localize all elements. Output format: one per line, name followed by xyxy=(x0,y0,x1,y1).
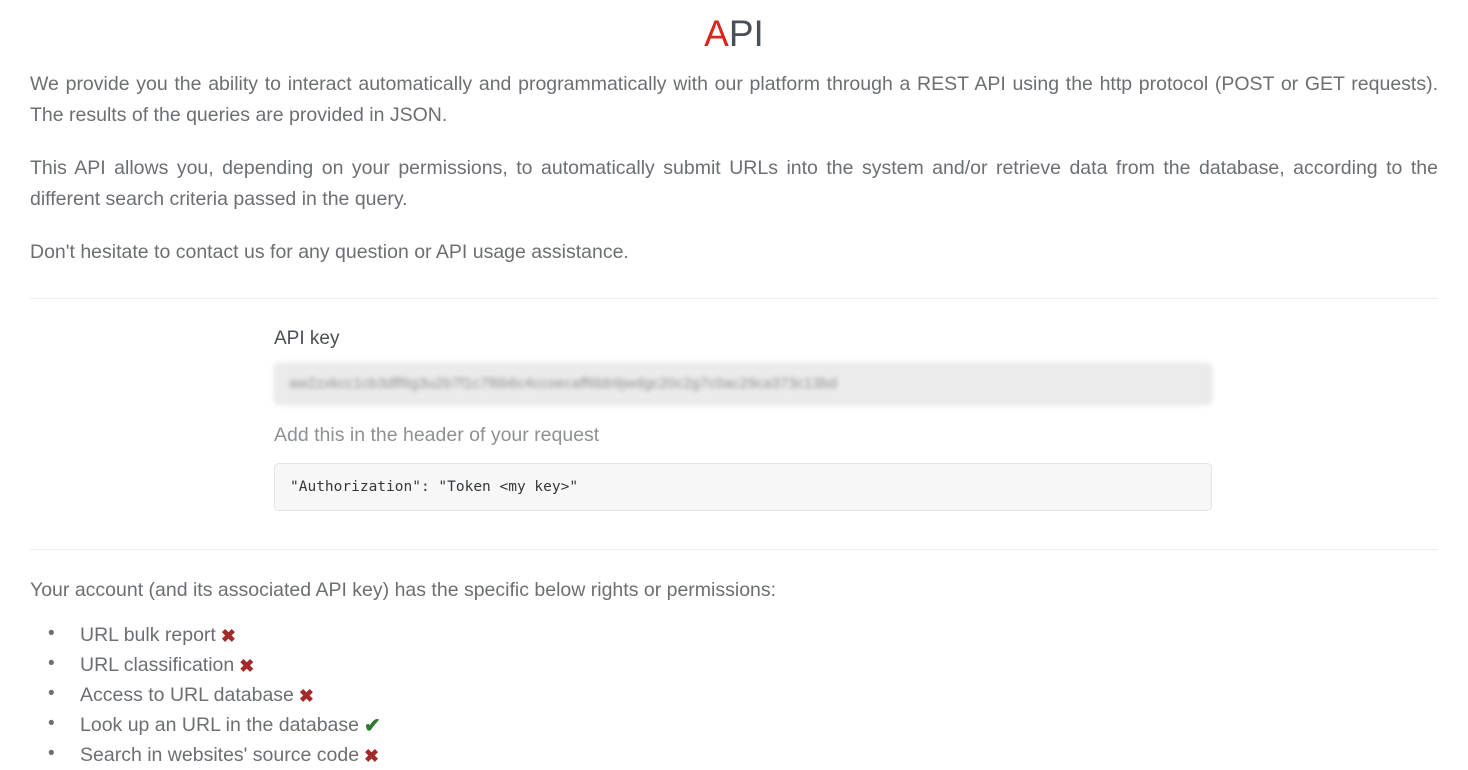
intro-paragraph-2: This API allows you, depending on your p… xyxy=(30,153,1438,215)
cross-icon: ✖ xyxy=(221,627,236,645)
page-title: API xyxy=(0,0,1468,55)
cross-icon: ✖ xyxy=(299,687,314,705)
api-key-label: API key xyxy=(274,327,1212,351)
intro-paragraph-3: Don't hesitate to contact us for any que… xyxy=(30,237,1438,268)
list-item: URL bulk report✖ xyxy=(80,620,1438,650)
list-item: URL classification✖ xyxy=(80,650,1438,680)
check-icon: ✔ xyxy=(364,716,381,736)
permission-label: Access to URL database xyxy=(80,684,294,706)
list-item: Look up an URL in the database✔ xyxy=(80,710,1438,740)
permission-label: URL bulk report xyxy=(80,624,216,646)
cross-icon: ✖ xyxy=(239,657,254,675)
intro-paragraph-1: We provide you the ability to interact a… xyxy=(30,69,1438,131)
page-title-rest: PI xyxy=(729,13,764,54)
permissions-list: URL bulk report✖ URL classification✖ Acc… xyxy=(30,620,1438,770)
permission-label: Look up an URL in the database xyxy=(80,714,359,736)
api-page: API We provide you the ability to intera… xyxy=(0,0,1468,759)
cross-icon: ✖ xyxy=(364,747,379,765)
permission-label: Search in websites' source code xyxy=(80,744,359,766)
page-title-accent-letter: A xyxy=(704,13,729,54)
authorization-header-code: "Authorization": "Token <my key>" xyxy=(274,463,1212,511)
api-key-form: API key Add this in the header of your r… xyxy=(274,299,1212,511)
permission-label: URL classification xyxy=(80,654,234,676)
list-item: Access to URL database✖ xyxy=(80,680,1438,710)
intro-section: We provide you the ability to interact a… xyxy=(30,55,1438,268)
list-item: Search in websites' source code✖ xyxy=(80,740,1438,770)
api-key-helper-text: Add this in the header of your request xyxy=(274,421,1212,449)
api-key-input[interactable] xyxy=(274,363,1212,405)
permissions-section: Your account (and its associated API key… xyxy=(30,550,1438,770)
permissions-intro: Your account (and its associated API key… xyxy=(30,576,1438,604)
